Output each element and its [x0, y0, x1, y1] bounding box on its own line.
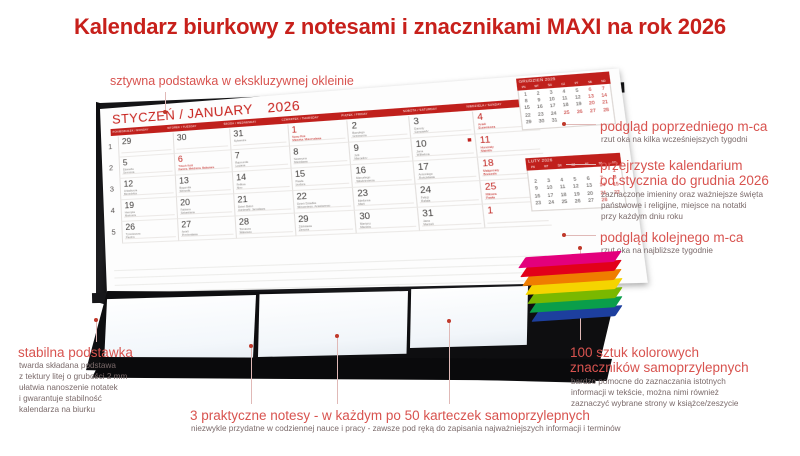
callout-stable-base-title: stabilna podstawka	[18, 345, 133, 360]
mini-next-day: 23	[531, 200, 545, 208]
callout-stable-base-sub-1: twarda składana podstawa	[19, 361, 116, 372]
calendar-day-cell[interactable]: 30MartynyMacieja	[354, 208, 419, 234]
notepad-3	[410, 286, 528, 348]
mini-prev-day: 31	[548, 117, 562, 125]
page-title: Kalendarz biurkowy z notesami i znacznik…	[0, 14, 800, 40]
calendar-day-cell[interactable]: 17AntoniegoRościsława	[413, 158, 480, 185]
leader-line-prev-month	[566, 124, 596, 125]
day-note-rule	[121, 149, 171, 153]
calendar-day-cell[interactable]: 12ArkadiuszaBenedykta	[119, 176, 175, 201]
calendar-day-cell[interactable]: 24FelicjiRafała	[415, 181, 482, 208]
callout-stable-base-sub-2: z tektury litej o grubości 2 mm	[19, 372, 127, 383]
callout-markers-title-1: 100 sztuk kolorowych	[570, 345, 699, 360]
calendar-day-cell[interactable]: 20FabianaSebastiana	[176, 194, 234, 219]
leader-line-next-month	[566, 235, 596, 236]
mini-prev-day: 25	[560, 109, 574, 117]
calendar-day-cell[interactable]: 23IldefonsaMarii	[352, 185, 417, 211]
calendar-day-cell[interactable]: 15PawłaIzydora	[290, 165, 352, 191]
leader-dot-notepad-1	[249, 344, 253, 348]
callout-prev-month-title: podgląd poprzedniego m-ca	[600, 119, 767, 134]
sticky-markers	[524, 254, 629, 320]
mini-next-dow-0: PN	[526, 165, 540, 170]
mini-next-day: 24	[544, 199, 558, 207]
mini-next-dow-2: ŚR	[553, 163, 567, 168]
leader-dot-notepad-2	[335, 334, 339, 338]
week-number: 3	[104, 179, 121, 201]
day-number: 29	[122, 134, 173, 147]
callout-base-top-label: sztywna podstawka w ekskluzywnej okleini…	[110, 74, 354, 88]
notes-rule-line	[115, 271, 549, 286]
base-tray-front	[92, 357, 612, 381]
callout-markers-sub-2: informacji w tekście, można nimi również	[571, 388, 719, 399]
mini-prev-day: 28	[599, 106, 613, 114]
calendar-day-cell[interactable]: 26TymoteuszaPauliny	[121, 219, 178, 243]
notes-rule-line	[114, 263, 547, 278]
week-number: 4	[104, 200, 121, 222]
calendar-day-cell[interactable]: 21Dzień BabciAgnieszki, Jarosława	[233, 191, 293, 216]
calendar-year-label: 2026	[267, 98, 301, 116]
calendar-day-cell[interactable]: 22Dzień DziadkaWincentego, Anastazego	[292, 188, 355, 214]
calendar-day-cell[interactable]: 13BogumiłaWeroniki	[175, 172, 233, 197]
leader-line-notepad-3	[449, 323, 450, 404]
callout-stable-base-sub-4: i gwarantuje stabilność	[19, 394, 102, 405]
leader-dot-stable-base	[94, 318, 98, 322]
week-number: 1	[102, 137, 119, 159]
mini-next-dow-1: WT	[539, 164, 553, 169]
callout-calendarium-sub-2: państwowe i religijne, miejsce na notatk…	[601, 201, 747, 212]
leader-line-notepad-1	[251, 348, 252, 404]
leader-dot-markers	[578, 246, 582, 250]
callout-markers-sub-3: zaznaczyć wybrane strony w książce/zeszy…	[571, 399, 738, 410]
calendar-day-cell[interactable]: 14FeliksaNiny	[232, 169, 292, 194]
mini-next-day: 26	[571, 198, 585, 206]
leader-dot-prev-month	[562, 122, 566, 126]
callout-markers-title-2: znaczników samoprzylepnych	[570, 360, 749, 375]
calendar-day-cell[interactable]: 27AnieliPrzybysława	[177, 217, 236, 242]
day-note-rule	[488, 220, 549, 224]
calendar-day-cell[interactable]: 28TomaszaWalerego	[234, 214, 295, 239]
day-note-rule	[176, 145, 227, 149]
callout-notepads-sub: niezwykle przydatne w codziennej nauce i…	[191, 424, 621, 435]
day-marker-icon	[468, 138, 472, 142]
mini-prev-day: 26	[573, 108, 587, 116]
callout-calendarium-title-1: przejrzyste kalendarium	[600, 158, 743, 173]
callout-markers-sub-1: bardzo pomocne do zaznaczania istotnych	[571, 377, 726, 388]
callout-next-month-title: podgląd kolejnego m-ca	[600, 230, 743, 245]
leader-line-base-top	[165, 92, 166, 112]
leader-dot-next-month	[562, 233, 566, 237]
leader-line-notepad-2	[337, 338, 338, 404]
calendar-day-cell[interactable]: 19HenrykaMariusza	[120, 197, 177, 222]
mini-prev-day: 29	[522, 118, 536, 126]
week-number: 2	[103, 158, 120, 180]
callout-prev-month-sub: rzut oka na kilka wcześniejszych tygodni	[601, 135, 748, 146]
mini-next-day: 25	[557, 198, 571, 206]
notepad-2	[258, 291, 408, 357]
callout-calendarium-title-2: od stycznia do grudnia 2026	[600, 173, 769, 188]
callout-stable-base-sub-5: kalendarza na biurku	[19, 405, 95, 416]
leader-dot-base-top	[163, 110, 167, 114]
callout-notepads-title: 3 praktyczne notesy - w każdym po 50 kar…	[190, 408, 590, 423]
leader-line-calendarium	[566, 164, 596, 165]
calendar-day-cell[interactable]: 16MarcelegoWłodzimierza	[350, 162, 414, 188]
leader-line-stable-base	[96, 322, 97, 342]
callout-stable-base-sub-3: ułatwia nanoszenie notatek	[19, 383, 118, 394]
mini-prev-day: 30	[535, 118, 549, 126]
mini-next-day: 27	[584, 197, 598, 205]
mini-prev-day: 27	[586, 107, 600, 115]
calendar-day-cell[interactable]: 31JanaMarceli	[417, 205, 484, 232]
callout-calendarium-sub-3: przy każdym dniu roku	[601, 212, 683, 223]
notes-rule-line	[114, 255, 547, 271]
leader-dot-notepad-3	[447, 319, 451, 323]
day-number: 30	[177, 130, 230, 143]
week-number: 5	[105, 222, 122, 244]
calendar-day-cell[interactable]: 29ZdzisławaZenona	[293, 211, 356, 237]
callout-calendarium-sub-1: zaznaczone imieniny oraz ważniejsze świę…	[601, 190, 763, 201]
